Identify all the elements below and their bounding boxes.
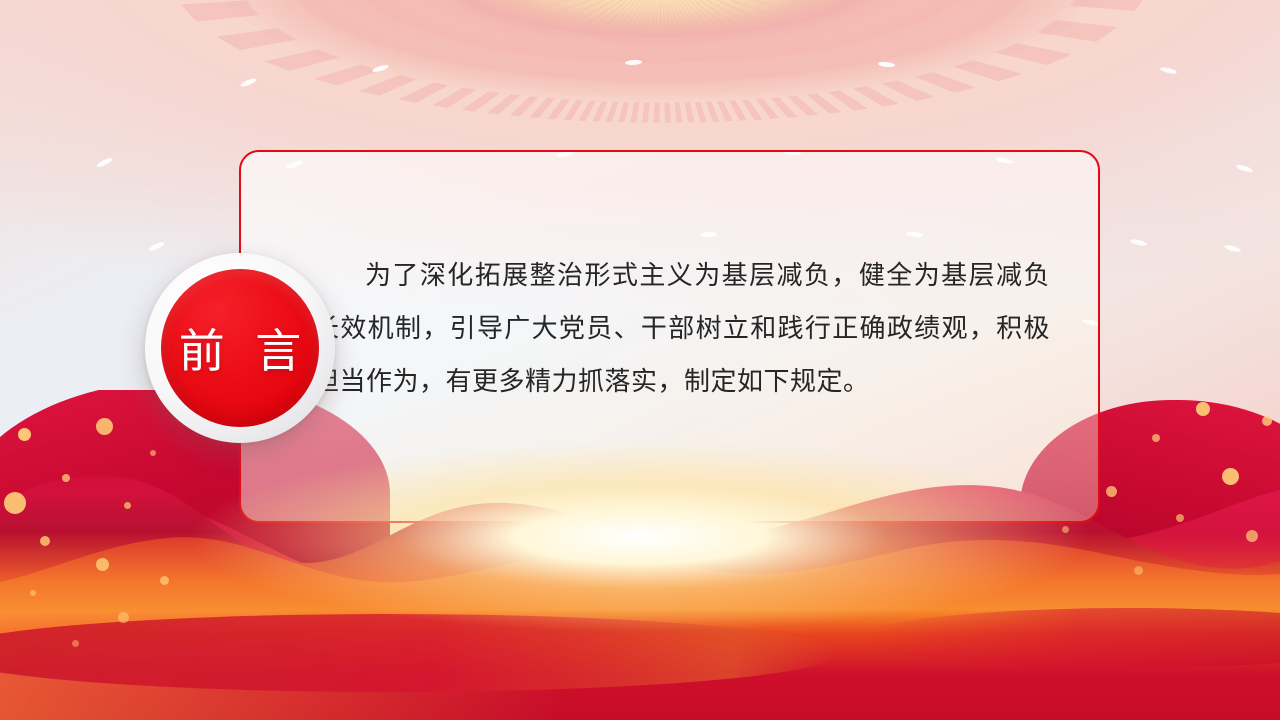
badge-label: 前 言: [171, 315, 310, 381]
medallion-sawtooth-ring: [170, 0, 1150, 123]
preface-paragraph: 为了深化拓展整治形式主义为基层减负，健全为基层减负长效机制，引导广大党员、干部树…: [313, 250, 1050, 409]
medallion-ring-middle: [280, 0, 1040, 83]
medallion-ring-outer: [210, 0, 1110, 104]
five-pointed-star-icon: [632, 0, 688, 4]
preface-badge[interactable]: 前 言: [145, 253, 335, 443]
badge-inner-circle: 前 言: [161, 269, 319, 427]
sunset-glow: [190, 442, 1090, 632]
medallion-ring-inner: [360, 0, 960, 61]
slide-canvas: 为了深化拓展整治形式主义为基层减负，健全为基层减负长效机制，引导广大党员、干部树…: [0, 0, 1280, 720]
medallion-core-glow: [450, 0, 870, 33]
top-medallion-decoration: [150, 0, 1170, 143]
light-rays-icon: [510, 0, 810, 48]
